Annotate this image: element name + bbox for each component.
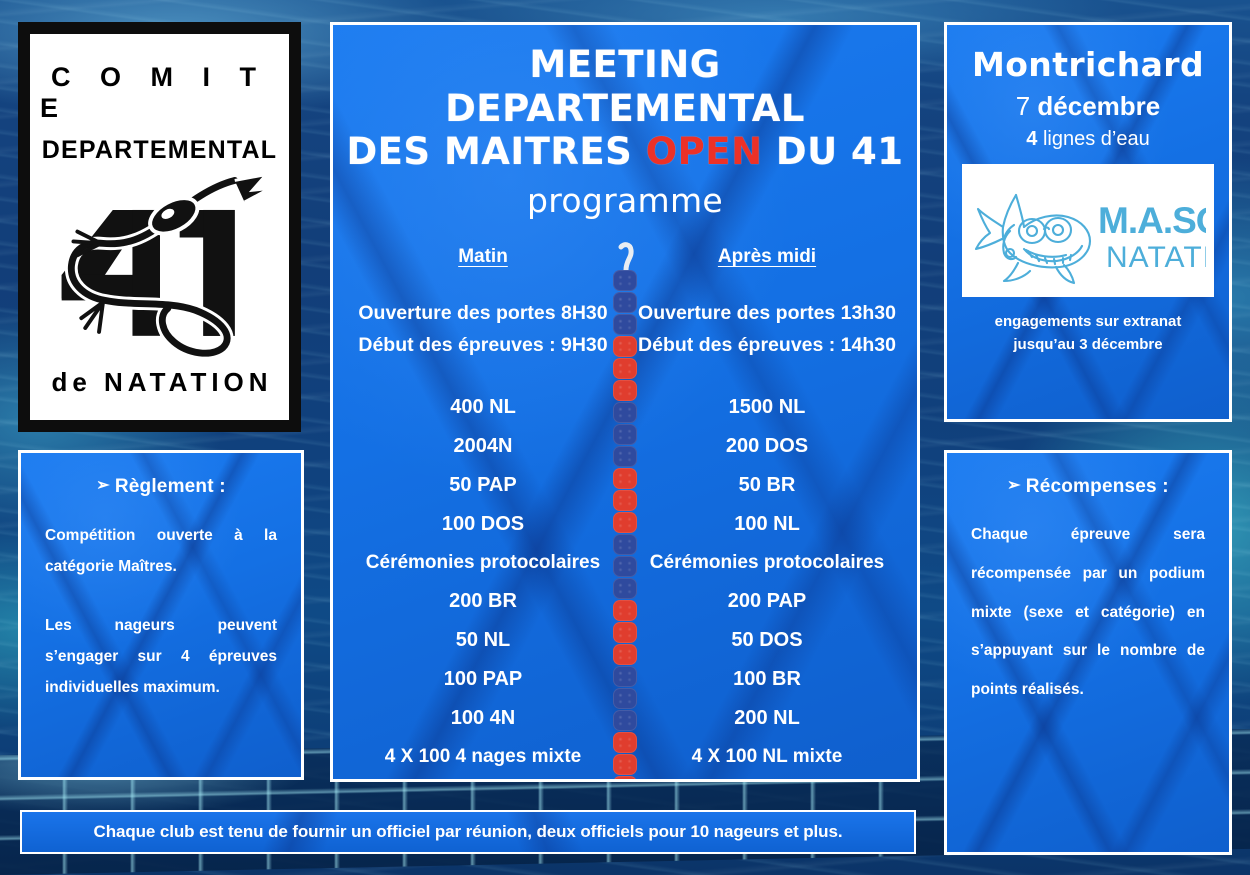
program-panel: MEETING DEPARTEMENTAL DES MAITRES OPEN D… [330,22,920,782]
afternoon-event: 200 PAP [625,581,909,620]
venue-date-number: 7 [1016,91,1030,121]
afternoon-event: Cérémonies protocolaires [625,775,909,782]
federation-logo-card: C O M I T E DEPARTEMENTAL [18,22,301,432]
morning-start-time: Début des épreuves : 9H30 [341,330,625,362]
afternoon-event: 100 BR [625,659,909,698]
venue-date-month: décembre [1037,91,1160,121]
venue-city-name: Montrichard [947,25,1229,84]
logo-line-comite: C O M I T E [40,62,279,124]
masq-natation-logo: M.A.SQ NATATION [970,175,1206,287]
page-title: programme [343,181,907,220]
afternoon-event: 50 BR [625,465,909,504]
morning-event: 400 NL [341,387,625,426]
recompenses-paragraph-1: Chaque épreuve sera récompensée par un p… [971,516,1205,710]
venue-lane-number: 4 [1026,128,1037,150]
morning-event: Cérémonies protocolaires [341,543,625,581]
bullet-arrow-icon: ➢ [96,477,110,494]
salamander-41-emblem-icon [42,171,278,361]
title-line-1: MEETING DEPARTEMENTAL [343,43,907,130]
recompenses-panel: ➢Récompenses : Chaque épreuve sera récom… [944,450,1232,855]
afternoon-event: 50 DOS [625,620,909,659]
officials-requirement-banner: Chaque club est tenu de fournir un offic… [20,810,916,854]
program-columns: Matin Ouverture des portes 8H30 Début de… [333,246,917,782]
poster-canvas: C O M I T E DEPARTEMENTAL [0,0,1250,875]
reglement-heading-text: Règlement : [115,476,226,497]
morning-event: 50 PAP [341,465,625,504]
afternoon-times: Ouverture des portes 13h30 Début des épr… [625,298,909,361]
afternoon-start-time: Début des épreuves : 14h30 [625,330,909,362]
venue-note-line-1: engagements sur extranat [947,311,1229,334]
program-column-afternoon: Après midi Ouverture des portes 13h30 Dé… [625,246,909,782]
shark-with-goggles-icon [976,195,1090,283]
logo-line-natation: de NATATION [46,367,272,398]
title-open-badge: OPEN [646,130,763,173]
club-logo-card: M.A.SQ NATATION [962,164,1214,297]
morning-times: Ouverture des portes 8H30 Début des épre… [341,298,625,361]
morning-event: 4 X 100 4 nages mixte [341,737,625,775]
recompenses-body: Chaque épreuve sera récompensée par un p… [947,498,1229,710]
program-title-block: MEETING DEPARTEMENTAL DES MAITRES OPEN D… [333,25,917,220]
morning-heading: Matin [341,246,625,268]
bullet-arrow-icon: ➢ [1007,477,1021,494]
morning-event: 100 PAP [341,659,625,698]
reglement-paragraph-1: Compétition ouverte à la catégorie Maîtr… [45,520,277,582]
reglement-heading: ➢Règlement : [21,453,301,498]
title-line-2-after: DU 41 [763,130,904,173]
recompenses-heading: ➢Récompenses : [947,453,1229,498]
afternoon-event: 1500 NL [625,387,909,426]
venue-lane-label: lignes d’eau [1043,128,1150,150]
title-line-2: DES MAITRES OPEN DU 41 [343,130,907,174]
logo-line-departemental: DEPARTEMENTAL [42,136,278,165]
morning-event: 2004N [341,426,625,465]
afternoon-event: 200 NL [625,698,909,737]
afternoon-heading: Après midi [625,246,909,268]
natation-wordmark: NATATION [1106,241,1206,274]
morning-event: 100 DOS [341,504,625,543]
banner-text: Chaque club est tenu de fournir un offic… [94,822,843,842]
venue-lane-count: 4 lignes d’eau [947,128,1229,151]
venue-registration-note: engagements sur extranat jusqu’au 3 déce… [947,311,1229,356]
morning-event: Cérémonies protocolaires [341,775,625,782]
reglement-paragraph-2: Les nageurs peuvent s’engager sur 4 épre… [45,610,277,703]
afternoon-event: 200 DOS [625,426,909,465]
recompenses-heading-text: Récompenses : [1026,476,1169,497]
morning-event: 100 4N [341,698,625,737]
afternoon-event: 4 X 100 NL mixte [625,737,909,775]
afternoon-doors-time: Ouverture des portes 13h30 [625,298,909,330]
afternoon-event: 100 NL [625,504,909,543]
afternoon-event: Cérémonies protocolaires [625,543,909,581]
program-column-morning: Matin Ouverture des portes 8H30 Début de… [341,246,625,782]
morning-event: 50 NL [341,620,625,659]
reglement-panel: ➢Règlement : Compétition ouverte à la ca… [18,450,304,780]
masq-wordmark: M.A.SQ [1098,200,1206,241]
venue-date: 7 décembre [947,91,1229,122]
venue-note-line-2: jusqu’au 3 décembre [947,334,1229,357]
morning-event: 200 BR [341,581,625,620]
reglement-body: Compétition ouverte à la catégorie Maîtr… [21,498,301,703]
venue-panel: Montrichard 7 décembre 4 lignes d’eau [944,22,1232,422]
morning-doors-time: Ouverture des portes 8H30 [341,298,625,330]
title-line-2-before: DES MAITRES [346,130,645,173]
